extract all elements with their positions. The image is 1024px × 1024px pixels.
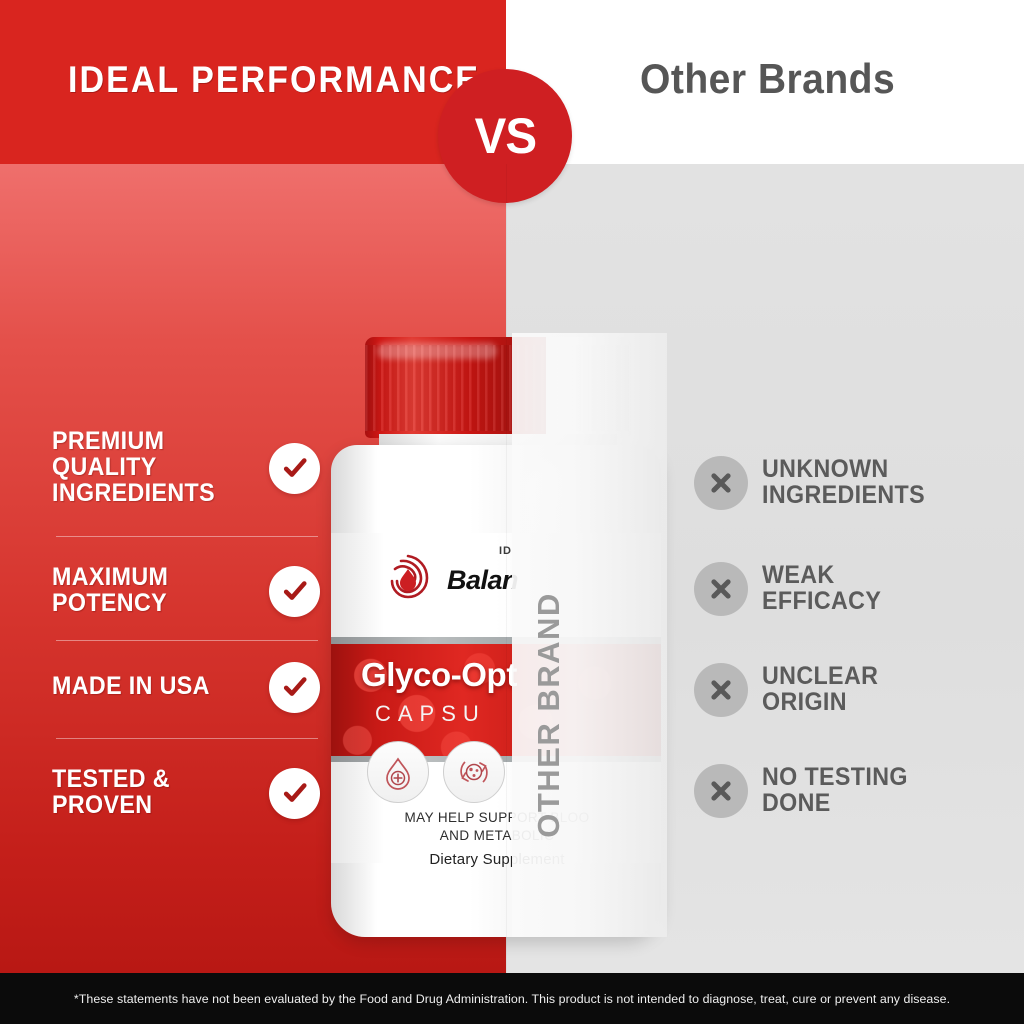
list-divider [56,640,318,641]
bottle-cap [365,337,631,438]
benefits-list: PREMIUM QUALITY INGREDIENTS MAXIMUM POTE… [0,410,330,850]
check-icon [269,566,320,617]
other-brand-overlay-label: OTHER BRAND [521,565,577,865]
product-bottle: ID Balan Glyco-Opt CAPSU [325,333,667,937]
bottle-cap-highlight [377,343,497,359]
benefit-label: MADE IN USA [52,674,210,700]
cross-icon [694,663,748,717]
list-item[interactable]: UNCLEAR ORIGIN [694,651,984,729]
benefit-label: TESTED & PROVEN [52,767,170,819]
list-item[interactable]: PREMIUM QUALITY INGREDIENTS [52,422,320,514]
cross-icon [694,764,748,818]
check-icon [269,443,320,494]
spiral-drop-logo-icon [377,547,439,609]
blood-drop-plus-icon [367,741,429,803]
drawback-label: UNCLEAR ORIGIN [762,664,878,716]
list-item[interactable]: NO TESTING DONE [694,752,984,830]
list-item[interactable]: MADE IN USA [52,656,320,718]
panel-split-line [506,164,507,973]
vs-badge: VS [438,69,572,203]
label-divider-top [331,637,661,644]
check-icon [269,662,320,713]
cross-icon [694,456,748,510]
list-divider [56,536,318,537]
left-column-title: IDEAL PERFORMANCE [68,43,436,117]
cross-icon [694,562,748,616]
benefit-label: PREMIUM QUALITY INGREDIENTS [52,429,215,506]
other-brand-text: OTHER BRAND [531,592,567,838]
right-column-title: Other Brands [640,40,956,118]
fda-disclaimer: *These statements have not been evaluate… [0,973,1024,1024]
list-divider [56,738,318,739]
supplement-type: Dietary Supplement [347,851,647,868]
bottle-label: ID Balan Glyco-Opt CAPSU [331,533,661,863]
product-claim: MAY HELP SUPPORT BLOO AND METABOLIC [347,809,647,845]
drawback-label: WEAK EFFICACY [762,563,881,615]
drawback-label: NO TESTING DONE [762,765,908,817]
bottle-body: ID Balan Glyco-Opt CAPSU [331,445,661,937]
product-title: Glyco-Opt [361,656,517,694]
drawbacks-list: UNKNOWN INGREDIENTS WEAK EFFICACY UNCLEA… [694,430,994,850]
drawback-label: UNKNOWN INGREDIENTS [762,457,925,509]
comparison-infographic: IDEAL PERFORMANCE Other Brands VS [0,0,1024,1024]
metabolism-cycle-icon [443,741,505,803]
check-icon [269,768,320,819]
list-item[interactable]: UNKNOWN INGREDIENTS [694,444,984,522]
benefit-label: MAXIMUM POTENCY [52,565,168,617]
list-item[interactable]: WEAK EFFICACY [694,550,984,628]
list-item[interactable]: MAXIMUM POTENCY [52,552,320,630]
list-item[interactable]: TESTED & PROVEN [52,754,320,832]
product-subtitle: CAPSU [375,701,486,727]
label-brand-name: Balan [447,565,518,596]
vs-label: VS [474,107,535,165]
